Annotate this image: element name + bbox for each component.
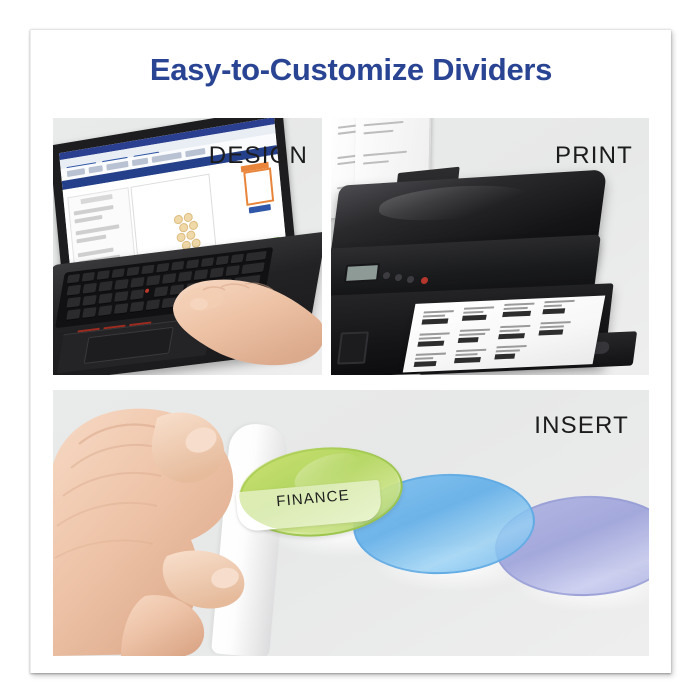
panel-label-print: PRINT xyxy=(555,142,633,170)
panel-print: PRINT xyxy=(331,118,649,375)
panel-label-design: DESIGN xyxy=(209,142,308,170)
printer-memory-card-slot xyxy=(337,331,369,364)
screen-sidebar-button xyxy=(249,204,271,214)
panel-insert: FINANCE xyxy=(53,390,649,656)
panel-design: DESIGN xyxy=(53,118,322,375)
printer-lcd-display xyxy=(344,263,380,283)
trackpoint-icon xyxy=(145,288,150,293)
printed-label-sheet xyxy=(403,296,606,373)
panel-label-insert: INSERT xyxy=(534,412,629,440)
product-image: Easy-to-Customize Dividers xyxy=(0,0,700,700)
hand-typing xyxy=(159,260,322,368)
product-card: Easy-to-Customize Dividers xyxy=(30,29,671,673)
screen-sidebar xyxy=(239,161,282,241)
page-title: Easy-to-Customize Dividers xyxy=(31,52,671,88)
screen-selected-template xyxy=(243,167,274,206)
